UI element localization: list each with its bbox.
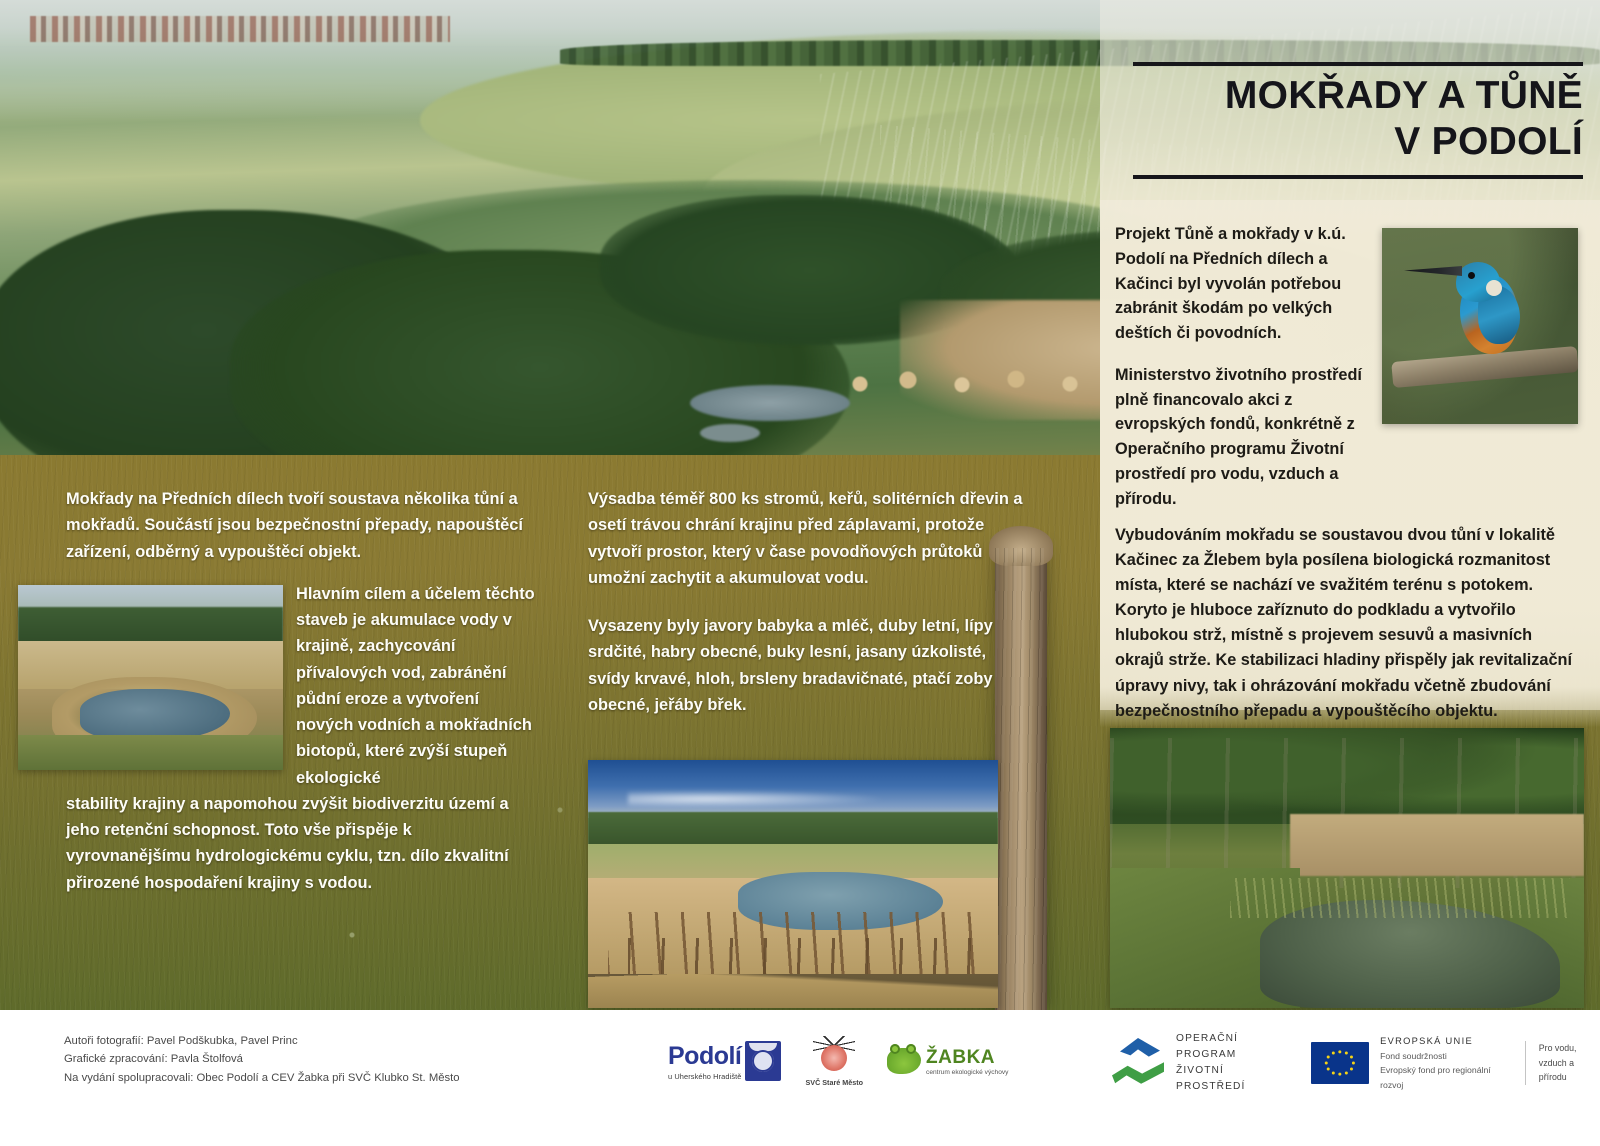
logo-opzp: OPERAČNÍ PROGRAM ŽIVOTNÍ PROSTŘEDÍ <box>1112 1031 1293 1094</box>
slogan-line-2: vzduch a přírodu <box>1539 1056 1600 1086</box>
title-line-2: V PODOLÍ <box>1133 118 1583 164</box>
middle-paragraph-1: Výsadba téměř 800 ks stromů, keřů, solit… <box>588 486 1028 591</box>
middle-text-column: Výsadba téměř 800 ks stromů, keřů, solit… <box>588 486 1028 718</box>
photo-sky <box>588 760 998 818</box>
credit-line: Grafické zpracování: Pavla Štolfová <box>64 1050 584 1068</box>
middle-paragraph-2: Vysazeny byly javory babyka a mléč, duby… <box>588 613 1028 718</box>
frog-icon <box>887 1048 921 1074</box>
eu-stars-icon <box>1311 1042 1369 1084</box>
photo-irrigation-hose <box>588 974 998 1008</box>
slogan-block: Pro vodu, vzduch a přírodu <box>1525 1041 1600 1086</box>
title-line-1: MOKŘADY A TŮNĚ <box>1133 66 1583 118</box>
logo-zabka-wordmark: ŽABKA <box>926 1047 1008 1069</box>
left-paragraph-1: Mokřady na Předních dílech tvoří soustav… <box>66 486 536 565</box>
credits-block: Autoři fotografií: Pavel Podškubka, Pave… <box>64 1032 584 1087</box>
photo-tree-line <box>588 812 998 848</box>
right-detail-paragraph: Vybudováním mokřadu se soustavou dvou tů… <box>1115 523 1585 724</box>
page-title: MOKŘADY A TŮNĚ V PODOLÍ <box>1133 62 1583 179</box>
logo-opzp-text: OPERAČNÍ PROGRAM ŽIVOTNÍ PROSTŘEDÍ <box>1176 1031 1293 1094</box>
sun-disc-icon <box>821 1045 847 1071</box>
hay-bales <box>830 360 1130 400</box>
photo-earth-bank <box>1290 814 1584 876</box>
logo-eu-line-1: EVROPSKÁ UNIE <box>1380 1034 1507 1049</box>
pond-water <box>690 385 850 421</box>
logo-opzp-line-2: ŽIVOTNÍ PROSTŘEDÍ <box>1176 1063 1293 1095</box>
podoli-crest-icon <box>745 1041 781 1081</box>
opzp-blue-chevron <box>1120 1038 1160 1068</box>
logo-zabka-subtitle: centrum ekologické výchovy <box>926 1069 1008 1076</box>
intro-paragraph-1: Projekt Tůně a mokřady v k.ú. Podolí na … <box>1115 222 1373 346</box>
funding-logo-row: OPERAČNÍ PROGRAM ŽIVOTNÍ PROSTŘEDÍ <box>1112 1026 1600 1100</box>
sun-burst-icon <box>811 1036 857 1076</box>
logo-svc-label: SVČ Staré Město <box>805 1078 863 1087</box>
forest-pool-photo <box>1110 728 1584 1008</box>
logo-podoli-wordmark: Podolí <box>668 1044 741 1069</box>
logo-podoli-subtitle: u Uherského Hradiště <box>668 1072 741 1081</box>
credit-line: Na vydání spolupracovali: Obec Podolí a … <box>64 1069 584 1087</box>
left-paragraph-2-narrow: Hlavním cílem a účelem těchto staveb je … <box>296 581 536 791</box>
title-divider-bottom <box>1133 175 1583 179</box>
logo-svc-klubko: SVČ Staré Město <box>805 1036 863 1087</box>
information-poster: MOKŘADY A TŮNĚ V PODOLÍ Projekt Tůně a m… <box>0 0 1600 1146</box>
logo-podoli: Podolí u Uherského Hradiště <box>668 1041 781 1081</box>
logo-eu-line-3: Evropský fond pro regionální rozvoj <box>1380 1063 1507 1091</box>
partner-logo-row: Podolí u Uherského Hradiště SVČ Staré Mě… <box>668 1026 1008 1096</box>
kingfisher-cheek-patch <box>1486 280 1502 296</box>
logo-eu: EVROPSKÁ UNIE Fond soudržnosti Evropský … <box>1311 1034 1506 1091</box>
pond-water <box>700 424 760 442</box>
right-detail-text-block: Vybudováním mokřadu se soustavou dvou tů… <box>1115 523 1585 724</box>
left-paragraph-2-tail: stability krajiny a napomohou zvýšit bio… <box>66 791 536 896</box>
opzp-green-chevron <box>1112 1058 1164 1088</box>
aerial-pond-photo <box>18 585 283 770</box>
photo-forest-band <box>18 607 283 645</box>
wetland-basin-photo <box>588 760 998 1008</box>
logo-eu-text: EVROPSKÁ UNIE Fond soudržnosti Evropský … <box>1380 1034 1507 1091</box>
kingfisher-photo <box>1382 228 1578 424</box>
intro-text-block: Projekt Tůně a mokřady v k.ú. Podolí na … <box>1115 222 1373 511</box>
village-rooftops <box>30 16 450 42</box>
photo-grass-band <box>18 735 283 770</box>
logo-eu-line-2: Fond soudržnosti <box>1380 1049 1507 1063</box>
photo-reeds <box>1230 878 1570 918</box>
eu-flag-icon <box>1311 1042 1369 1084</box>
logo-opzp-line-1: OPERAČNÍ PROGRAM <box>1176 1031 1293 1063</box>
slogan-line-1: Pro vodu, <box>1539 1041 1600 1056</box>
crest-wave-shape <box>749 1043 777 1051</box>
credit-line: Autoři fotografií: Pavel Podškubka, Pave… <box>64 1032 584 1050</box>
photo-cloud <box>628 790 888 808</box>
logo-zabka: ŽABKA centrum ekologické výchovy <box>887 1047 1008 1076</box>
intro-paragraph-2: Ministerstvo životního prostředí plně fi… <box>1115 363 1373 512</box>
opzp-arrow-icon <box>1112 1038 1164 1088</box>
kingfisher-eye <box>1468 272 1475 279</box>
